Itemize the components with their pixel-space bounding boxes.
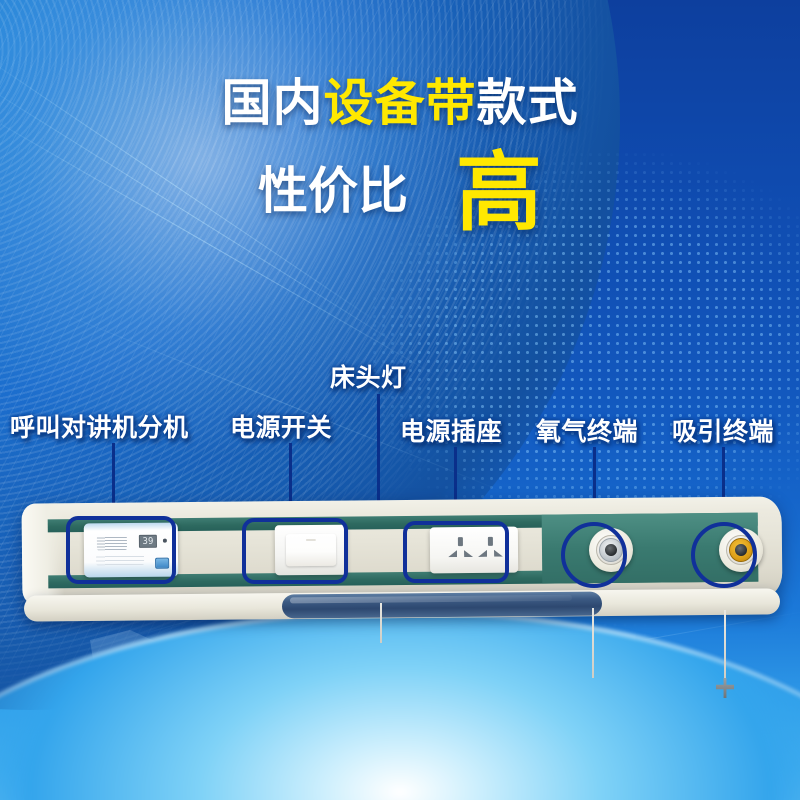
status-led-icon bbox=[163, 539, 167, 543]
hanging-cord-center bbox=[592, 608, 594, 678]
bed-lamp-diffuser bbox=[282, 591, 602, 618]
oxygen-terminal-port bbox=[605, 544, 617, 556]
headline-line-2: 性价比高 bbox=[0, 150, 800, 236]
headline-text-kuanshi: 款式 bbox=[477, 74, 579, 132]
callout-power-switch: 电源开关 bbox=[230, 408, 332, 444]
socket-face bbox=[439, 533, 509, 568]
nurse-call-intercom[interactable]: 39 bbox=[84, 523, 179, 578]
hanging-cord-left bbox=[380, 603, 382, 643]
suction-terminal-port bbox=[735, 544, 747, 556]
bed-head-unit: 39 bbox=[22, 500, 782, 620]
callout-power-socket: 电源插座 bbox=[400, 412, 502, 448]
switch-rocker-button[interactable] bbox=[286, 534, 336, 566]
intercom-call-button[interactable] bbox=[155, 558, 169, 569]
product-banner: 国内设备带款式 性价比高 呼叫对讲机分机 电源开关 床头灯 电源插座 氧气终端 … bbox=[0, 0, 800, 800]
power-switch[interactable] bbox=[275, 525, 347, 576]
hanging-cord-right bbox=[724, 610, 726, 682]
power-socket-plate[interactable] bbox=[430, 527, 518, 574]
callout-intercom: 呼叫对讲机分机 bbox=[10, 408, 189, 444]
socket-outlet-right[interactable] bbox=[477, 537, 505, 561]
speaker-grille-icon bbox=[97, 536, 127, 550]
headline-text-gao: 高 bbox=[456, 143, 542, 243]
callout-oxygen-terminal: 氧气终端 bbox=[536, 412, 638, 448]
headline-text-xingjiabi: 性价比 bbox=[258, 162, 408, 220]
headline-text-shebeidai: 设备带 bbox=[324, 74, 477, 132]
socket-outlet-left[interactable] bbox=[447, 537, 475, 561]
headline-text-guonei: 国内 bbox=[222, 74, 324, 132]
intercom-vent-lines bbox=[96, 555, 144, 565]
oxygen-terminal[interactable] bbox=[589, 528, 633, 572]
headline-line-1: 国内设备带款式 bbox=[0, 78, 800, 128]
callout-suction-terminal: 吸引终端 bbox=[672, 412, 774, 448]
callout-bed-lamp: 床头灯 bbox=[330, 358, 407, 394]
headline-block: 国内设备带款式 性价比高 bbox=[0, 78, 800, 236]
suction-terminal[interactable] bbox=[719, 528, 763, 572]
intercom-display: 39 bbox=[139, 535, 157, 548]
